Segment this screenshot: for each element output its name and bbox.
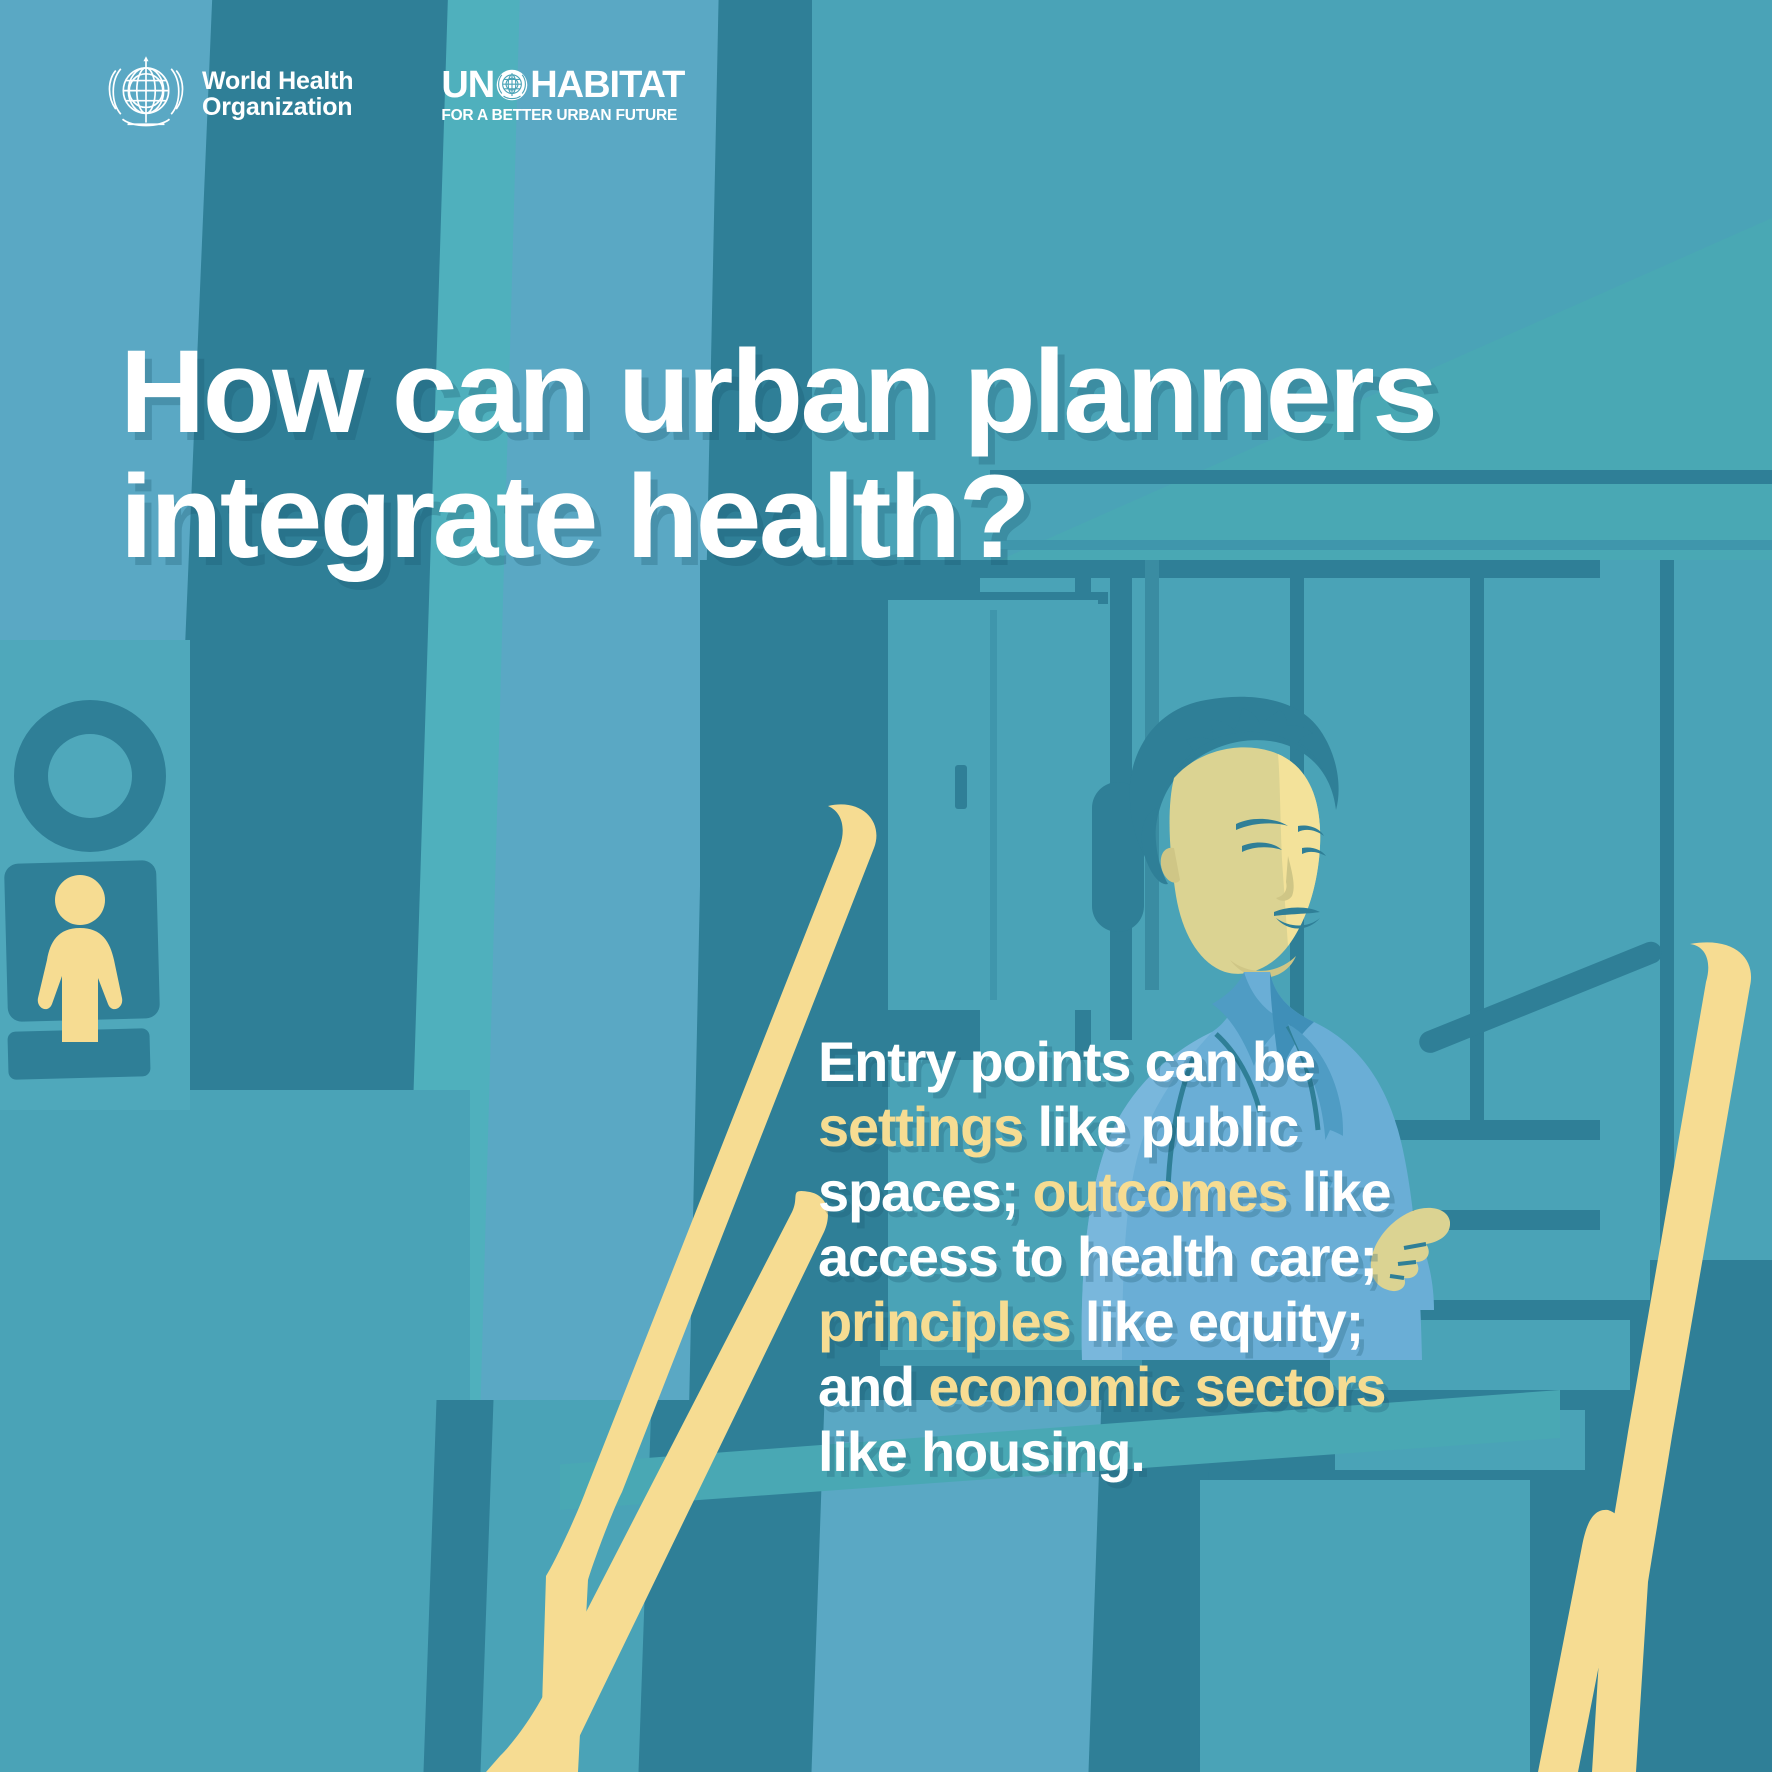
- unhabitat-suffix: HABITAT: [530, 66, 684, 104]
- who-emblem-icon: [104, 52, 188, 136]
- far-right-mullion: [1660, 560, 1674, 1260]
- body-plain-text: like housing.: [818, 1420, 1145, 1483]
- headline-line-2: integrate health?: [120, 455, 1540, 580]
- unhabitat-tagline: FOR A BETTER URBAN FUTURE: [441, 107, 684, 125]
- poster-canvas: World Health Organization UN: [0, 0, 1772, 1772]
- body-highlight-term: principles: [818, 1290, 1071, 1353]
- logo-bar: World Health Organization UN: [104, 52, 684, 136]
- door-seam: [990, 610, 997, 1000]
- page-title: How can urban planners integrate health?: [120, 330, 1540, 580]
- door-handle: [955, 765, 967, 809]
- body-text: Entry points can be settings like public…: [818, 1030, 1458, 1485]
- headline-line-1: How can urban planners: [120, 330, 1540, 455]
- walking-person-icon: [34, 874, 130, 1042]
- body-plain-text: Entry points can be: [818, 1030, 1315, 1093]
- floor-block-left: [0, 1090, 470, 1772]
- who-wordmark: World Health Organization: [202, 68, 353, 121]
- who-line-1: World Health: [202, 68, 353, 94]
- body-highlight-term: economic sectors: [928, 1355, 1385, 1418]
- body-highlight-term: outcomes: [1033, 1160, 1288, 1223]
- crossing-button-ring-icon: [14, 700, 166, 852]
- un-emblem-icon: [495, 68, 529, 102]
- unhabitat-logo: UN HABITAT FOR A BETTER: [441, 66, 684, 125]
- unhabitat-prefix: UN: [441, 66, 494, 104]
- body-highlight-term: settings: [818, 1095, 1023, 1158]
- who-line-2: Organization: [202, 94, 353, 120]
- body-paragraph: Entry points can be settings like public…: [818, 1030, 1458, 1485]
- floor-stripe-2: [481, 1400, 654, 1772]
- floor-block-right: [1200, 1480, 1530, 1772]
- unhabitat-wordmark: UN HABITAT: [441, 66, 684, 104]
- window-mullion-3: [1470, 575, 1484, 1120]
- who-logo: World Health Organization: [104, 52, 353, 136]
